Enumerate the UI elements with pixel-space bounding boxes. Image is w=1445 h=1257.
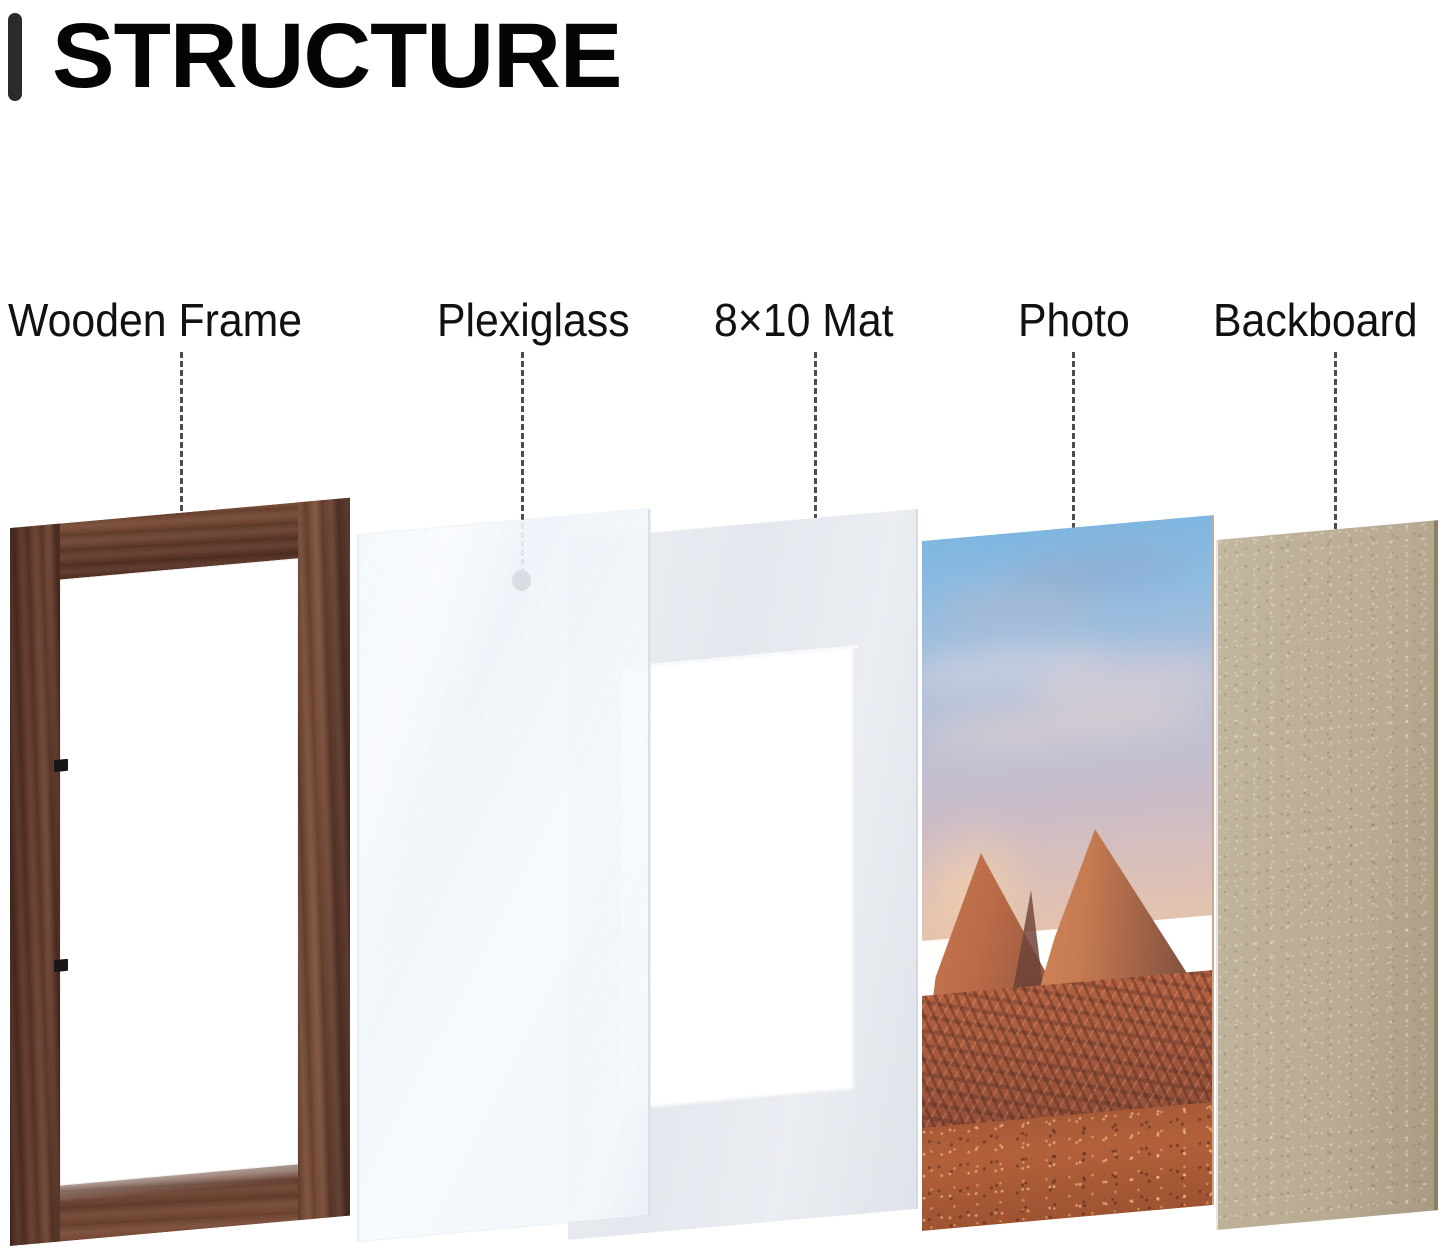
- wood-grain-texture: [10, 524, 60, 1246]
- layer-wooden-frame: [10, 498, 350, 1246]
- mat-bevel-edge: [622, 645, 859, 1114]
- exploded-layers-stage: [0, 0, 1445, 1257]
- layer-plexiglass: [358, 509, 650, 1241]
- layer-backboard: [1216, 520, 1438, 1230]
- wood-grain-texture: [298, 498, 350, 1221]
- frame-clip-lower: [54, 959, 68, 972]
- frame-inner-opening: [60, 558, 298, 1185]
- layer-photo: [922, 515, 1214, 1231]
- frame-rail-right: [298, 498, 350, 1221]
- structure-infographic: STRUCTURE Wooden Frame Plexiglass 8×10 M…: [0, 0, 1445, 1257]
- cloud: [1009, 541, 1189, 597]
- backboard-texture: [1218, 521, 1434, 1230]
- frame-rail-left: [10, 524, 60, 1246]
- plexiglass-sheen: [359, 509, 648, 1241]
- frame-clip-upper: [54, 759, 68, 772]
